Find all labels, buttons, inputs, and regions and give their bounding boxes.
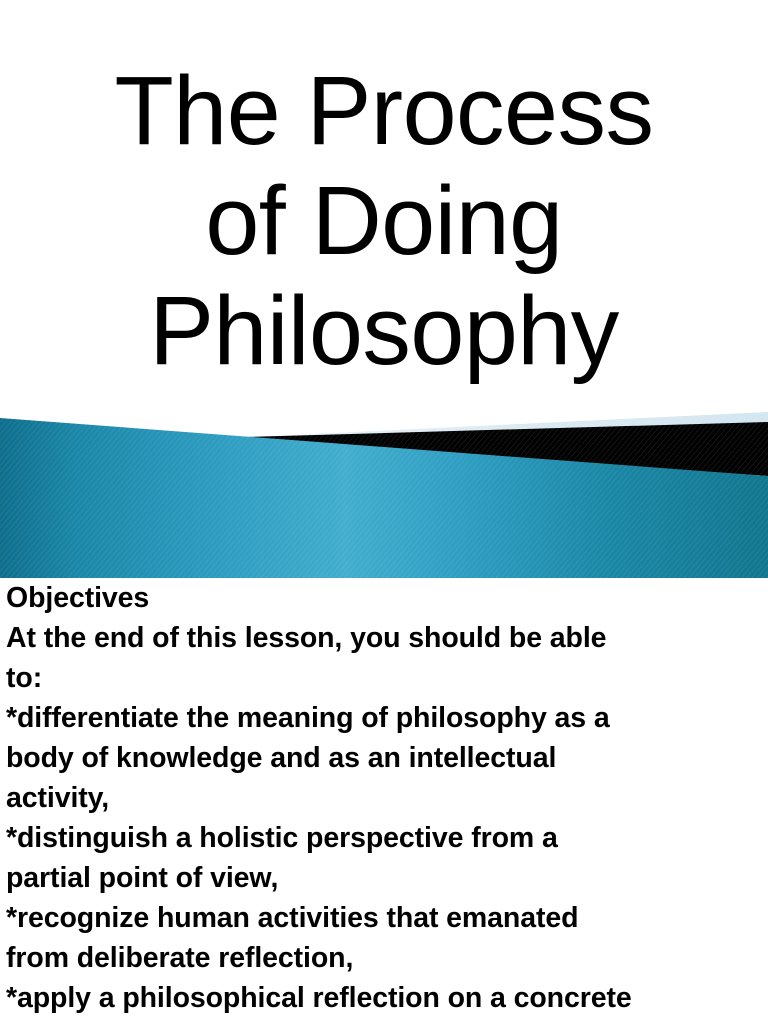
objectives-line-7: partial point of view, — [6, 858, 766, 898]
angled-banner-graphic — [0, 400, 768, 578]
objectives-text-block: Objectives At the end of this lesson, yo… — [6, 578, 766, 1024]
angled-banner — [0, 400, 768, 578]
slide-canvas: The Process of Doing Philosophy — [0, 0, 768, 1024]
title-line-2: of Doing — [0, 166, 768, 276]
objectives-line-6: *distinguish a holistic perspective from… — [6, 818, 766, 858]
objectives-line-5: activity, — [6, 778, 766, 818]
objectives-line-8: *recognize human activities that emanate… — [6, 898, 766, 938]
objectives-line-4: body of knowledge and as an intellectual — [6, 738, 766, 778]
title-line-3: Philosophy — [0, 276, 768, 386]
page-title: The Process of Doing Philosophy — [0, 56, 768, 386]
title-line-1: The Process — [0, 56, 768, 166]
objectives-line-10: *apply a philosophical reflection on a c… — [6, 978, 766, 1018]
objectives-line-3: *differentiate the meaning of philosophy… — [6, 698, 766, 738]
objectives-line-1: At the end of this lesson, you should be… — [6, 618, 766, 658]
objectives-line-11: situation from a holistic perspective, a… — [6, 1018, 766, 1024]
objectives-heading: Objectives — [6, 578, 766, 618]
objectives-line-2: to: — [6, 658, 766, 698]
objectives-line-9: from deliberate reflection, — [6, 938, 766, 978]
